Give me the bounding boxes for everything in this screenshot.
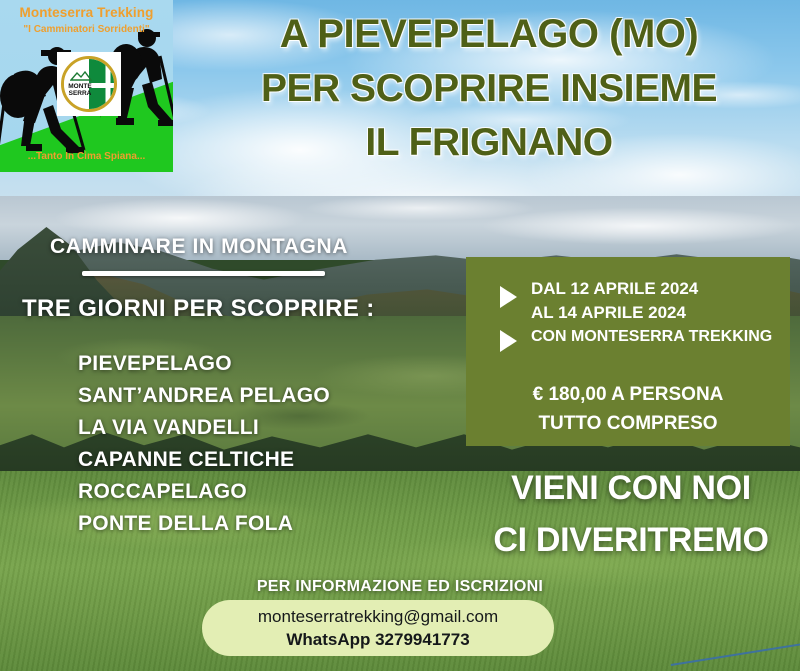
dates-row: DAL 12 APRILE 2024 AL 14 APRILE 2024: [500, 277, 698, 325]
title-line-3: IL FRIGNANO: [178, 123, 800, 162]
club-badge: MONTE SERRA: [57, 52, 121, 116]
organizer-row: CON MONTESERRA TREKKING: [500, 327, 772, 352]
section-subheading: CAMMINARE IN MONTAGNA: [50, 235, 348, 259]
dates-line-1: DAL 12 APRILE 2024: [531, 277, 698, 301]
tagline: TRE GIORNI PER SCOPRIRE :: [22, 295, 375, 323]
contact-email[interactable]: monteserratrekking@gmail.com: [258, 605, 498, 628]
list-item: SANT’ANDREA PELAGO: [78, 380, 330, 412]
cta-line-1: VIENI CON NOI: [466, 462, 796, 514]
triangle-bullet-icon: [500, 286, 517, 308]
call-to-action: VIENI CON NOI CI DIVERITREMO: [466, 462, 796, 566]
divider-rule: [82, 271, 325, 276]
organizer-text: CON MONTESERRA TREKKING: [531, 327, 772, 347]
price-block: € 180,00 A PERSONA TUTTO COMPRESO: [466, 380, 790, 438]
contact-pill[interactable]: monteserratrekking@gmail.com WhatsApp 32…: [202, 600, 554, 656]
title-line-1: A PIEVEPELAGO (MO): [178, 14, 800, 54]
club-slogan: "I Camminatori Sorridenti": [0, 24, 173, 35]
list-item: LA VIA VANDELLI: [78, 412, 330, 444]
info-box: DAL 12 APRILE 2024 AL 14 APRILE 2024 CON…: [466, 257, 790, 446]
list-item: PIEVEPELAGO: [78, 348, 330, 380]
badge-label: MONTE SERRA: [66, 83, 94, 97]
badge-label-line2: SERRA: [66, 90, 94, 97]
dates-line-2: AL 14 APRILE 2024: [531, 301, 698, 325]
cta-line-2: CI DIVERITREMO: [466, 514, 796, 566]
price-line-2: TUTTO COMPRESO: [466, 409, 790, 438]
list-item: PONTE DELLA FOLA: [78, 508, 330, 540]
main-title: A PIEVEPELAGO (MO) PER SCOPRIRE INSIEME …: [178, 14, 800, 162]
badge-label-line1: MONTE: [66, 83, 94, 90]
title-line-2: PER SCOPRIRE INSIEME: [178, 69, 800, 108]
list-item: CAPANNE CELTICHE: [78, 444, 330, 476]
logo-card: MONTE SERRA Monteserra Trekking "I Cammi…: [0, 0, 173, 172]
club-name: Monteserra Trekking: [0, 5, 173, 20]
triangle-bullet-icon: [500, 330, 517, 352]
badge-circle: MONTE SERRA: [61, 56, 117, 112]
mountain-icon: [70, 71, 92, 81]
contact-heading: PER INFORMAZIONE ED ISCRIZIONI: [0, 578, 800, 596]
dates-text: DAL 12 APRILE 2024 AL 14 APRILE 2024: [531, 277, 698, 325]
club-footer-slogan: ...Tanto In Cima Spiana...: [0, 151, 173, 162]
places-list: PIEVEPELAGO SANT’ANDREA PELAGO LA VIA VA…: [78, 348, 330, 540]
contact-whatsapp[interactable]: WhatsApp 3279941773: [286, 628, 469, 651]
poster: MONTE SERRA Monteserra Trekking "I Cammi…: [0, 0, 800, 671]
list-item: ROCCAPELAGO: [78, 476, 330, 508]
price-line-1: € 180,00 A PERSONA: [466, 380, 790, 409]
